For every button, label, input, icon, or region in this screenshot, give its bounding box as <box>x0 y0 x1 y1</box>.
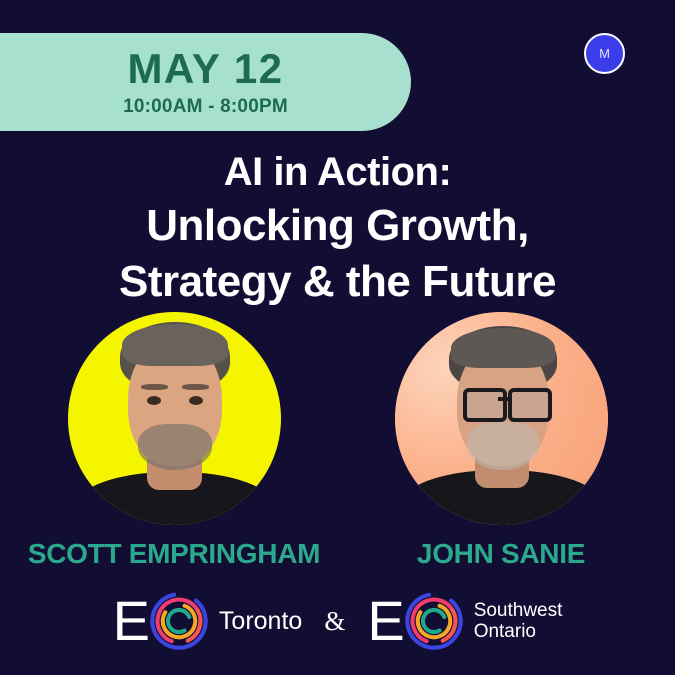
logo-eo-southwest-ontario[interactable]: E Southwest Ontario <box>367 592 562 650</box>
eo-letter-e: E <box>113 598 148 644</box>
title-line-3: Strategy & the Future <box>0 260 675 304</box>
speaker-photo-scott <box>68 312 281 525</box>
event-time: 10:00AM - 8:00PM <box>123 97 288 116</box>
event-date: MAY 12 <box>127 48 283 90</box>
eo-letter-e: E <box>367 598 402 644</box>
portrait-illustration <box>395 312 608 525</box>
title-line-1: AI in Action: <box>0 152 675 192</box>
footer-logos: E Toronto & E <box>0 592 675 650</box>
speaker-list: SCOTT EMPRINGHAM JOHN SANIE <box>0 312 675 568</box>
speaker-card: SCOTT EMPRINGHAM <box>68 312 281 568</box>
logo-separator: & <box>324 608 345 635</box>
portrait-illustration <box>68 312 281 525</box>
eo-spiral-icon <box>405 592 463 650</box>
logo-label: Toronto <box>219 607 302 635</box>
logo-eo-toronto[interactable]: E Toronto <box>113 592 303 650</box>
logo-label: Southwest Ontario <box>474 600 563 643</box>
date-banner: MAY 12 10:00AM - 8:00PM <box>0 33 411 131</box>
eo-spiral-icon <box>150 592 208 650</box>
speaker-card: JOHN SANIE <box>395 312 608 568</box>
avatar[interactable]: M <box>584 33 625 74</box>
avatar-initial: M <box>599 47 610 60</box>
speaker-photo-john <box>395 312 608 525</box>
speaker-name: JOHN SANIE <box>417 540 585 568</box>
title-line-2: Unlocking Growth, <box>0 204 675 248</box>
page-title: AI in Action: Unlocking Growth, Strategy… <box>0 152 675 304</box>
event-flyer: MAY 12 10:00AM - 8:00PM M AI in Action: … <box>0 0 675 675</box>
speaker-name: SCOTT EMPRINGHAM <box>28 540 320 568</box>
